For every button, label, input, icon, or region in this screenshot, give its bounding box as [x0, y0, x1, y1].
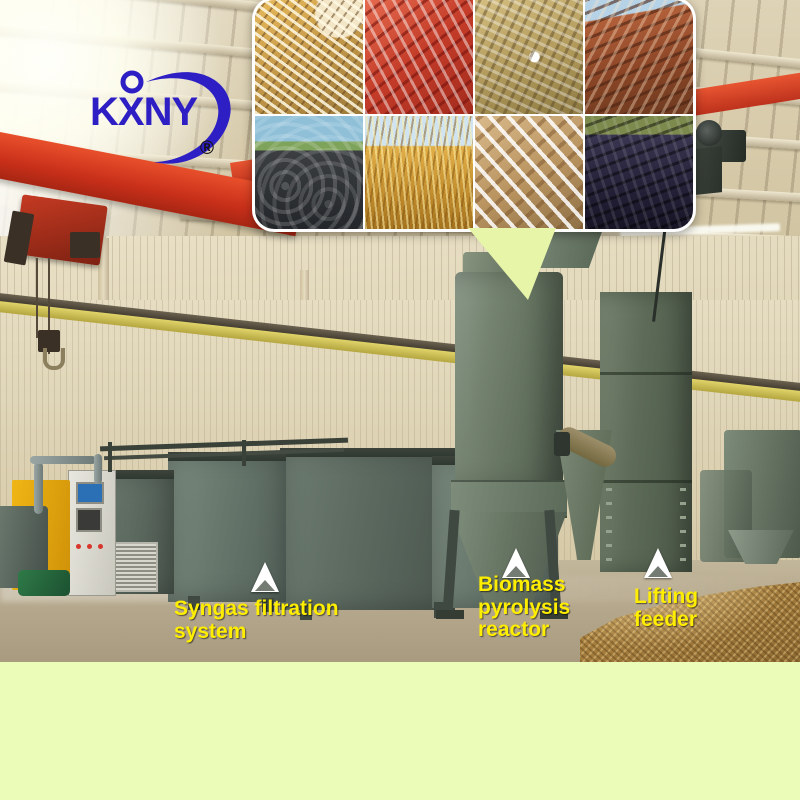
feedstock-cell-corn-cobs — [365, 0, 473, 114]
marker-label-syngas-filtration-system: Syngas filtration system — [174, 598, 344, 643]
crane-hook — [43, 348, 65, 370]
feedstock-cell-straw-bales — [365, 116, 473, 230]
product-photo-composite: KXNY ® Syngas filtration system Biomass … — [0, 0, 800, 800]
up-arrow-icon — [644, 548, 672, 578]
panel-indicator-light — [76, 544, 81, 549]
logo-wordmark: KXNY — [90, 90, 197, 135]
feeder-seam — [600, 480, 692, 483]
feeder-rivets — [606, 488, 612, 566]
marker-syngas-filtration-system — [245, 562, 279, 592]
panel-display — [76, 482, 104, 504]
reactor-leg-base — [436, 610, 464, 619]
pyrolysis-reactor-body — [455, 272, 563, 490]
factory-photo: KXNY ® Syngas filtration system Biomass … — [0, 0, 800, 662]
feedstock-cell-wood-scrap — [585, 0, 693, 114]
process-pipe — [30, 456, 96, 464]
feedstock-cell-waste-tires — [255, 116, 363, 230]
up-arrow-icon — [251, 562, 279, 592]
feedstock-cell-wood-chips — [255, 0, 363, 114]
process-pipe — [94, 454, 102, 484]
company-logo: KXNY ® — [84, 52, 244, 170]
rack-post — [108, 442, 112, 472]
feedstock-inset-panel — [252, 0, 696, 232]
feedstock-cell-waste-paper — [475, 116, 583, 230]
marker-label-lifting-feeder: Lifting feeder — [634, 586, 744, 631]
duct-flange — [554, 432, 570, 456]
feeder-drive-pulley — [696, 120, 722, 146]
rack-post — [242, 440, 246, 466]
process-pipe — [34, 462, 43, 514]
feedstock-cell-sludge — [585, 116, 693, 230]
hoist-block — [70, 232, 100, 258]
lifting-feeder-column — [600, 292, 692, 572]
feeder-seam — [600, 372, 692, 375]
pump-motor — [18, 570, 70, 596]
panel-indicator-light — [87, 544, 92, 549]
hoist-rope — [36, 258, 38, 338]
feedstock-cell-wood-pellets — [475, 0, 583, 114]
feedstock-grid — [255, 0, 693, 229]
panel-indicator-light — [98, 544, 103, 549]
process-flow-banner: Biomass pyrolysis gasification Syngas fi… — [0, 662, 800, 800]
feeder-rivets — [680, 488, 686, 566]
panel-meter — [76, 508, 102, 532]
marker-label-biomass-pyrolysis-reactor: Biomass pyrolysis reactor — [478, 574, 578, 642]
filtration-tank — [280, 448, 455, 610]
marker-lifting-feeder — [644, 548, 672, 578]
registered-trademark-icon: ® — [200, 138, 214, 160]
